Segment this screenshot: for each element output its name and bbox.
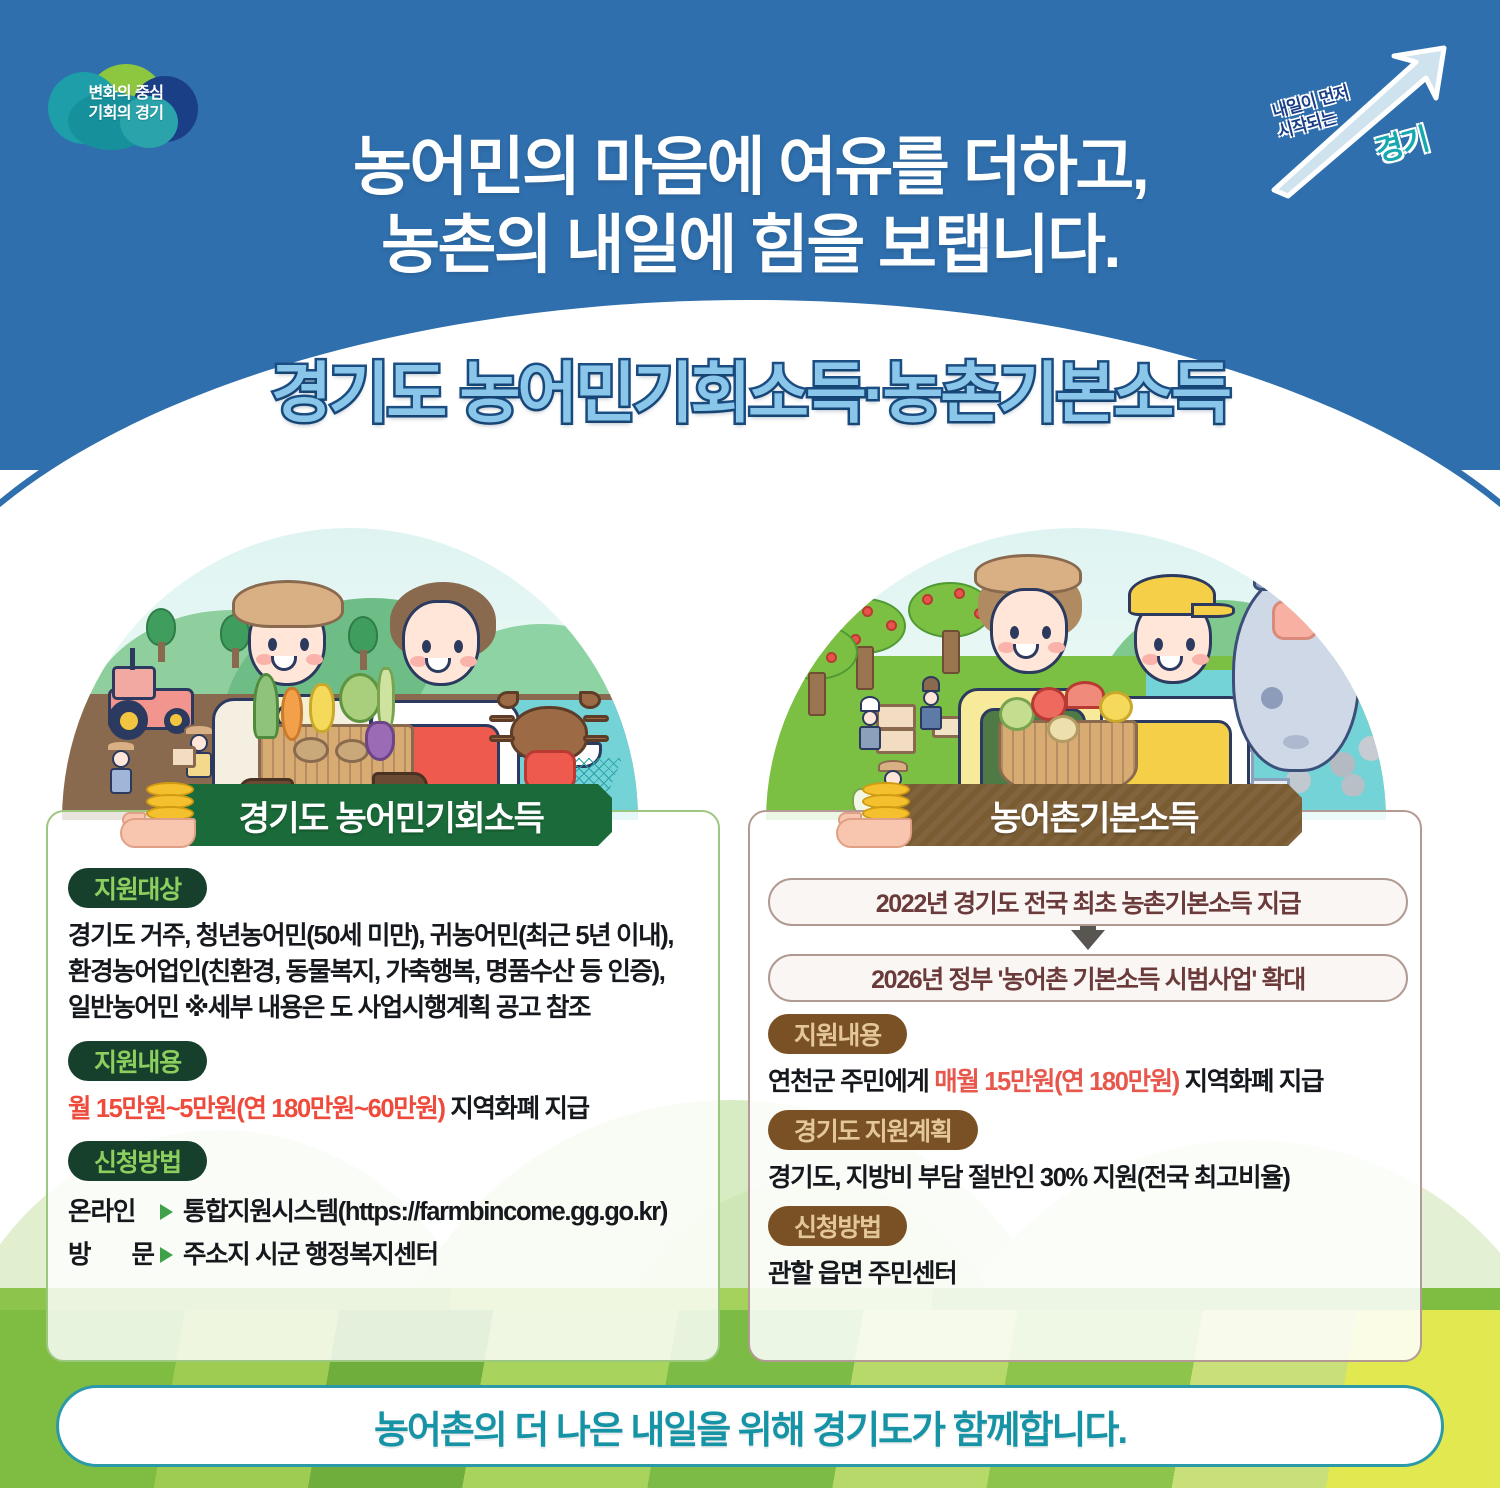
bottom-banner: 농어촌의 더 나은 내일을 위해 경기도가 함께합니다. bbox=[56, 1385, 1444, 1467]
support-target-text: 경기도 거주, 청년농어민(50세 미만), 귀농어민(최근 5년 이내), 환… bbox=[68, 918, 708, 1027]
timeline-pill-2026: 2026년 정부 '농어촌 기본소득 시범사업' 확대 bbox=[768, 954, 1408, 1002]
apply-visit-key-a: 방 bbox=[68, 1234, 90, 1271]
logo-text-line1: 변화의 중심 bbox=[46, 84, 206, 104]
arrow-down-icon bbox=[1071, 930, 1105, 950]
right-card-content: 2022년 경기도 전국 최초 농촌기본소득 지급 2026년 정부 '농어촌 … bbox=[768, 878, 1408, 1293]
label-support-target: 지원대상 bbox=[68, 868, 207, 908]
page-subtitle: 경기도 농어민기회소득·농촌기본소득 bbox=[0, 340, 1500, 436]
apply-method-list: 온라인 통합지원시스템(https://farmbincome.gg.go.kr… bbox=[68, 1191, 708, 1273]
support-target-line-3: 일반농어민 ※세부 내용은 도 사업시행계획 공고 참조 bbox=[68, 990, 708, 1026]
arrow-right-icon bbox=[160, 1247, 173, 1263]
support-target-line-1: 경기도 거주, 청년농어민(50세 미만), 귀농어민(최근 5년 이내), bbox=[68, 918, 708, 954]
right-benefit-text: 연천군 주민에게 매월 15만원(연 180만원) 지역화폐 지급 bbox=[768, 1064, 1408, 1100]
benefit-amount-highlight: 월 15만원~5만원(연 180만원~60만원) bbox=[68, 1095, 445, 1123]
label-apply-method: 신청방법 bbox=[768, 1206, 907, 1246]
label-support-benefit: 지원내용 bbox=[68, 1041, 207, 1081]
timeline-pill-2022: 2022년 경기도 전국 최초 농촌기본소득 지급 bbox=[768, 878, 1408, 926]
logo-text-line2: 기회의 경기 bbox=[46, 104, 206, 124]
apply-visit-value: 주소지 시군 행정복지센터 bbox=[183, 1237, 438, 1273]
right-benefit-prefix: 연천군 주민에게 bbox=[768, 1068, 934, 1096]
support-target-line-2: 환경농어업인(친환경, 동물복지, 가축행복, 명품수산 등 인증), bbox=[68, 954, 708, 990]
apply-method-online-row: 온라인 통합지원시스템(https://farmbincome.gg.go.kr… bbox=[68, 1191, 708, 1230]
card-title-right: 농어촌기본소득 bbox=[886, 784, 1302, 846]
arrow-right-icon bbox=[160, 1204, 173, 1220]
right-benefit-rest: 지역화폐 지급 bbox=[1179, 1068, 1323, 1096]
left-card-content: 지원대상 경기도 거주, 청년농어민(50세 미만), 귀농어민(최근 5년 이… bbox=[68, 868, 708, 1273]
coin-stack-icon bbox=[836, 778, 932, 850]
hand-icon bbox=[1272, 600, 1318, 640]
label-apply-method: 신청방법 bbox=[68, 1141, 207, 1181]
bottom-banner-text: 농어촌의 더 나은 내일을 위해 경기도가 함께합니다. bbox=[374, 1399, 1126, 1454]
benefit-amount-rest: 지역화폐 지급 bbox=[445, 1095, 589, 1123]
card-title-left: 경기도 농어민기회소득 bbox=[170, 784, 612, 846]
apply-online-value[interactable]: 통합지원시스템(https://farmbincome.gg.go.kr) bbox=[183, 1194, 667, 1230]
label-support-plan: 경기도 지원계획 bbox=[768, 1110, 978, 1150]
headline-line-2: 농촌의 내일에 힘을 보탭니다. bbox=[0, 206, 1500, 284]
support-benefit-text: 월 15만원~5만원(연 180만원~60만원) 지역화폐 지급 bbox=[68, 1091, 708, 1127]
apply-visit-key: 방 문 bbox=[68, 1234, 154, 1271]
apply-online-key: 온라인 bbox=[68, 1191, 154, 1228]
support-plan-text: 경기도, 지방비 부담 절반인 30% 지원(전국 최고비율) bbox=[768, 1160, 1408, 1196]
gyeonggi-brand-logo: 변화의 중심 기회의 경기 bbox=[46, 62, 206, 158]
right-apply-text: 관할 읍면 주민센터 bbox=[768, 1256, 1408, 1292]
apply-method-visit-row: 방 문 주소지 시군 행정복지센터 bbox=[68, 1234, 708, 1273]
illustration-farming-fishing bbox=[62, 528, 638, 820]
crate-icon bbox=[876, 728, 916, 754]
right-benefit-highlight: 매월 15만원(연 180만원) bbox=[934, 1068, 1179, 1096]
poster-root: 변화의 중심 기회의 경기 내일이 먼저 시작되는 경기 농어민의 마음에 여유… bbox=[0, 0, 1500, 1488]
logo-text: 변화의 중심 기회의 경기 bbox=[46, 84, 206, 125]
label-support-benefit: 지원내용 bbox=[768, 1014, 907, 1054]
illustration-orchard-fishery bbox=[766, 528, 1386, 820]
coin-stack-icon bbox=[120, 778, 216, 850]
crate-icon bbox=[876, 704, 916, 730]
slogan-logo: 내일이 먼저 시작되는 경기 bbox=[1266, 44, 1456, 202]
apply-visit-key-b: 문 bbox=[132, 1234, 154, 1271]
